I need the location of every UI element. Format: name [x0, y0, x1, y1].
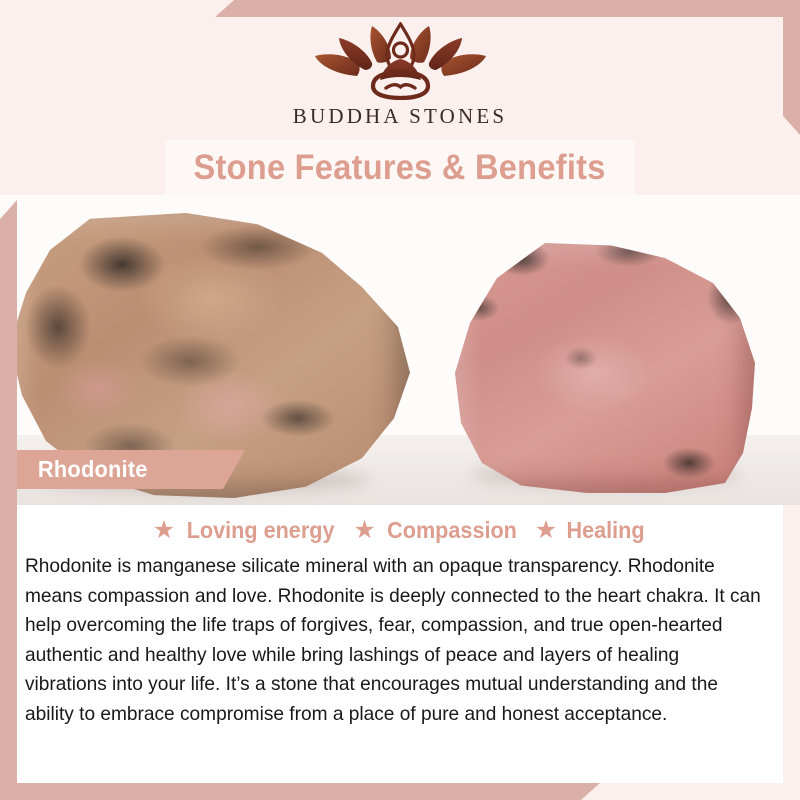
title-band: Stone Features & Benefits: [165, 140, 635, 196]
right-rhodonite-specimen: [455, 243, 755, 493]
brand-header: BUDDHA STONES: [0, 0, 800, 140]
status-badge: Rhodonite: [17, 450, 245, 489]
feature-label: Healing: [567, 517, 645, 544]
brand-name: BUDDHA STONES: [293, 104, 508, 129]
lotus-meditation-icon: [313, 22, 488, 100]
feature-list: ★ Loving energy ★ Compassion ★ Healing: [17, 505, 783, 544]
star-icon: ★: [535, 518, 557, 543]
feature-item-compassion: ★ Compassion: [353, 517, 520, 544]
feature-item-loving-energy: ★ Loving energy: [153, 517, 340, 544]
content-panel: ★ Loving energy ★ Compassion ★ Healing R…: [17, 505, 783, 783]
page-title: Stone Features & Benefits: [194, 148, 606, 188]
stone-name-label: Rhodonite: [17, 456, 148, 483]
decor-band-bottom: [0, 783, 600, 800]
star-icon: ★: [153, 518, 175, 543]
feature-label: Compassion: [387, 517, 517, 544]
feature-label: Loving energy: [187, 517, 335, 544]
stone-description: Rhodonite is manganese silicate mineral …: [25, 552, 764, 729]
star-icon: ★: [353, 518, 375, 543]
feature-item-healing: ★ Healing: [535, 517, 648, 544]
